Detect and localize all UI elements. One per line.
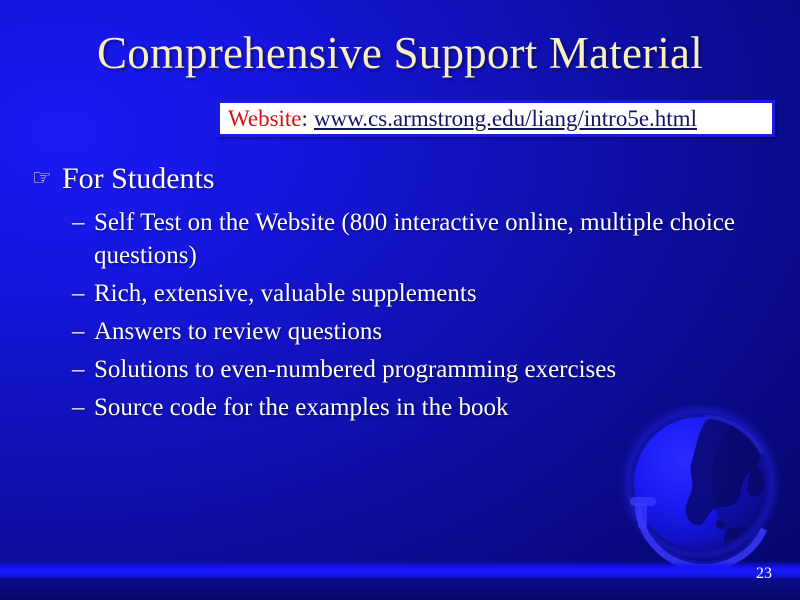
list-item: – Source code for the examples in the bo… bbox=[0, 391, 800, 424]
website-url-link[interactable]: www.cs.armstrong.edu/liang/intro5e.html bbox=[314, 106, 697, 132]
page-number: 23 bbox=[756, 564, 772, 584]
dash-bullet-icon: – bbox=[72, 277, 94, 310]
website-colon: : bbox=[302, 106, 308, 132]
pointing-hand-icon: ☞ bbox=[32, 160, 62, 198]
website-callout: Website : www.cs.armstrong.edu/liang/int… bbox=[216, 100, 775, 137]
bullet-level1-label: For Students bbox=[62, 160, 215, 198]
accent-band bbox=[0, 561, 800, 583]
footer-fade bbox=[0, 578, 800, 600]
page-title: Comprehensive Support Material bbox=[0, 26, 800, 80]
list-item-label: Solutions to even-numbered programming e… bbox=[94, 353, 616, 386]
list-item: – Rich, extensive, valuable supplements bbox=[0, 277, 800, 310]
dash-bullet-icon: – bbox=[72, 353, 94, 386]
list-item: – Solutions to even-numbered programming… bbox=[0, 353, 800, 386]
dash-bullet-icon: – bbox=[72, 391, 94, 424]
slide-body: ☞ For Students – Self Test on the Websit… bbox=[0, 160, 800, 429]
list-item-label: Source code for the examples in the book bbox=[94, 391, 508, 424]
list-item-label: Rich, extensive, valuable supplements bbox=[94, 277, 477, 310]
list-item: – Answers to review questions bbox=[0, 315, 800, 348]
presentation-slide: Comprehensive Support Material Website :… bbox=[0, 0, 800, 600]
website-label: Website bbox=[228, 106, 302, 132]
dash-bullet-icon: – bbox=[72, 206, 94, 239]
bullet-level1-for-students: ☞ For Students bbox=[0, 160, 800, 198]
list-item-label: Answers to review questions bbox=[94, 315, 382, 348]
list-item: – Self Test on the Website (800 interact… bbox=[0, 206, 800, 272]
dash-bullet-icon: – bbox=[72, 315, 94, 348]
globe-icon bbox=[612, 405, 800, 585]
list-item-label: Self Test on the Website (800 interactiv… bbox=[94, 206, 744, 272]
